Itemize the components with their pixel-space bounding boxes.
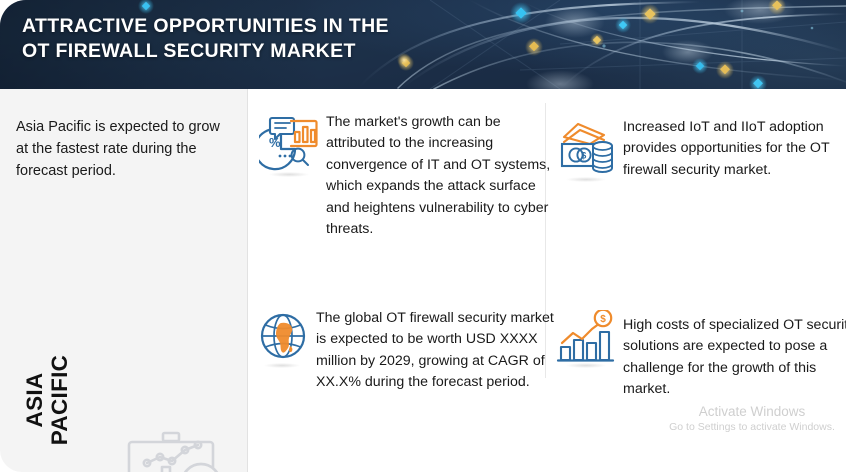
insight-card-text: Increased IoT and IIoT adoption provides…: [623, 117, 846, 181]
watermark-subtitle: Go to Settings to activate Windows.: [664, 420, 840, 434]
infographic-page: ATTRACTIVE OPPORTUNITIES IN THE OT FIREW…: [0, 0, 846, 472]
svg-text:$: $: [600, 314, 606, 325]
globe-icon: [259, 312, 309, 364]
insight-card-text: The market's growth can be attributed to…: [326, 112, 558, 240]
region-label: ASIA PACIFIC: [22, 335, 72, 465]
bar-chart-growth-dollar-icon: $: [556, 310, 616, 366]
svg-text:$: $: [581, 151, 586, 161]
page-title: ATTRACTIVE OPPORTUNITIES IN THE OT FIREW…: [22, 14, 389, 64]
money-banknote-coins-icon: $: [556, 120, 616, 178]
region-callout-text: Asia Pacific is expected to grow at the …: [16, 116, 230, 182]
left-panel: Asia Pacific is expected to grow at the …: [0, 89, 247, 472]
presentation-chart-search-icon: [122, 431, 230, 472]
windows-activation-watermark: Activate Windows Go to Settings to activ…: [664, 403, 840, 434]
insight-card-text: High costs of specialized OT security so…: [623, 315, 846, 401]
pie-chart-bar-report-icon: %: [259, 115, 319, 173]
watermark-title: Activate Windows: [664, 403, 840, 420]
header-banner: ATTRACTIVE OPPORTUNITIES IN THE OT FIREW…: [0, 0, 846, 89]
insight-card-text: The global OT firewall security market i…: [316, 308, 566, 394]
panel-divider-left: [247, 89, 248, 472]
